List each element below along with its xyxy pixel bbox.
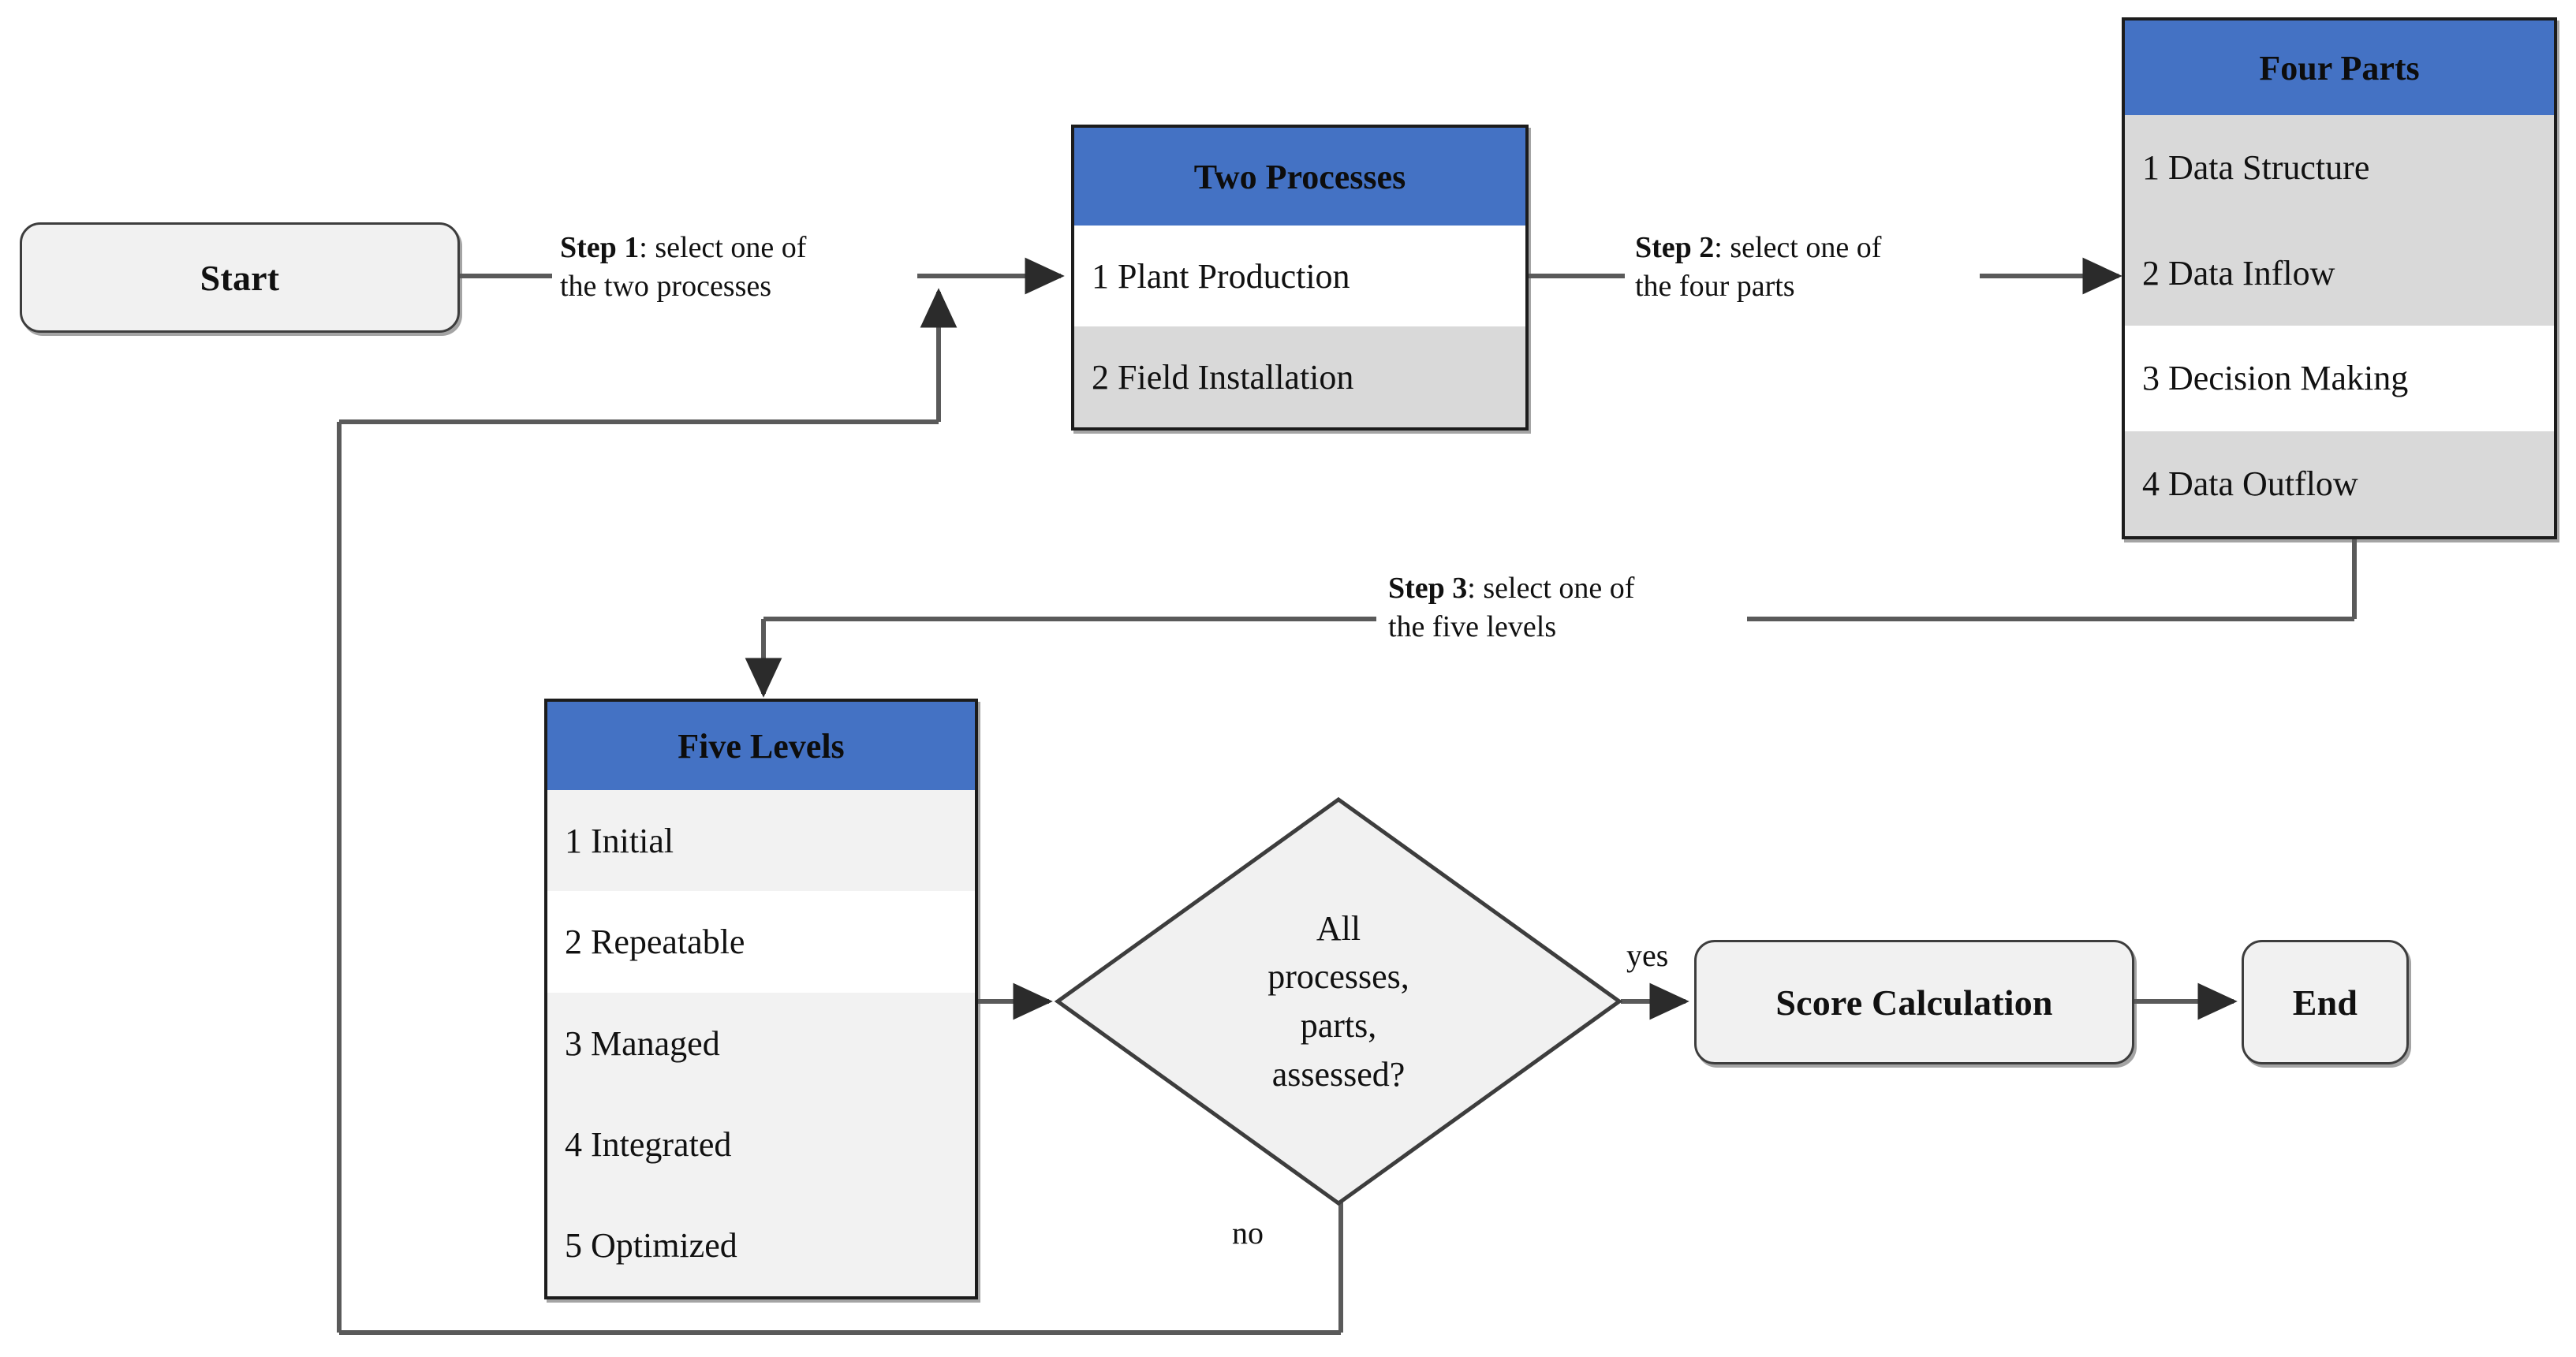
five-levels-row-1[interactable]: 1 Initial [547,790,975,891]
node-two-processes[interactable]: Two Processes 1 Plant Production 2 Field… [1071,125,1529,431]
two-processes-row-1[interactable]: 1 Plant Production [1074,226,1525,326]
node-score-calculation-label: Score Calculation [1775,982,2052,1023]
four-parts-row-2[interactable]: 2 Data Inflow [2125,221,2554,326]
edge-label-step2-rest: : select one of [1714,231,1881,264]
five-levels-row-2[interactable]: 2 Repeatable [547,891,975,992]
node-decision[interactable]: All processes, parts, assessed? [1053,795,1624,1208]
two-processes-row-2[interactable]: 2 Field Installation [1074,326,1525,427]
node-end[interactable]: End [2242,940,2409,1064]
edge-label-step2-strong: Step 2 [1635,231,1714,264]
four-parts-row-3[interactable]: 3 Decision Making [2125,326,2554,431]
edge-label-yes: yes [1626,937,1668,974]
node-four-parts[interactable]: Four Parts 1 Data Structure 2 Data Inflo… [2122,17,2557,539]
four-parts-header: Four Parts [2125,21,2554,115]
node-score-calculation[interactable]: Score Calculation [1694,940,2134,1064]
edge-label-step3-rest: : select one of [1467,572,1634,605]
four-parts-row-1[interactable]: 1 Data Structure [2125,115,2554,221]
edge-label-step2-line2: the four parts [1635,267,1881,306]
decision-shape [1053,795,1624,1208]
five-levels-header: Five Levels [547,702,975,790]
edge-label-step3-strong: Step 3 [1388,572,1467,605]
edge-label-step3-line2: the five levels [1388,608,1634,647]
edge-label-no: no [1232,1214,1264,1251]
edge-label-step1-line2: the two processes [560,267,806,306]
node-five-levels[interactable]: Five Levels 1 Initial 2 Repeatable 3 Man… [544,699,978,1299]
edge-label-step2: Step 2: select one of the four parts [1635,229,1881,307]
five-levels-row-5[interactable]: 5 Optimized [547,1195,975,1296]
five-levels-row-4[interactable]: 4 Integrated [547,1094,975,1195]
two-processes-header: Two Processes [1074,128,1525,226]
node-start[interactable]: Start [20,222,460,333]
edge-label-step3: Step 3: select one of the five levels [1388,569,1634,647]
flowchart-canvas: Start Step 1: select one of the two proc… [0,0,2576,1357]
four-parts-row-4[interactable]: 4 Data Outflow [2125,431,2554,537]
five-levels-row-3[interactable]: 3 Managed [547,993,975,1094]
edge-label-step1-rest: : select one of [639,231,806,264]
node-end-label: End [2293,982,2358,1023]
edge-label-step1-strong: Step 1 [560,231,639,264]
edge-label-step1: Step 1: select one of the two processes [560,229,806,307]
node-start-label: Start [200,257,280,299]
